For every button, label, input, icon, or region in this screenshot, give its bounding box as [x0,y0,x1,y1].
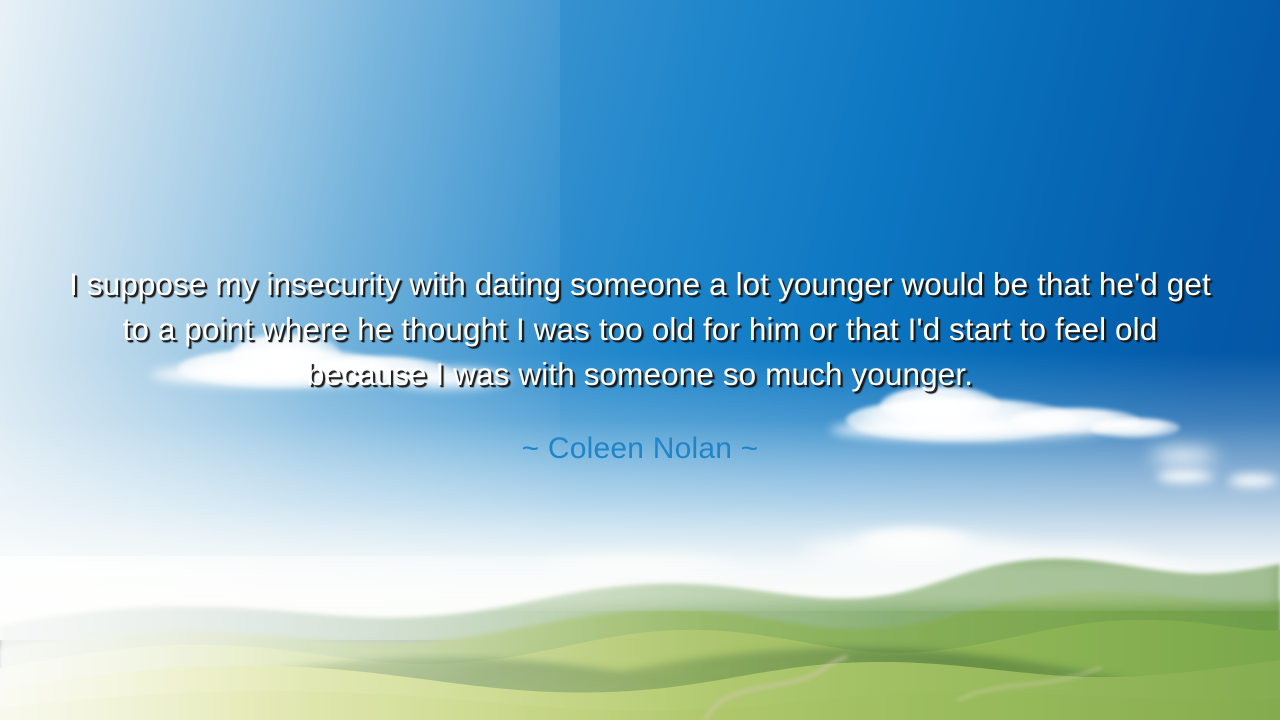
quote-block: I suppose my insecurity with dating some… [64,262,1216,468]
quote-attribution: ~ Coleen Nolan ~ [64,397,1216,468]
hill-haze-band [0,560,1280,606]
quote-text: I suppose my insecurity with dating some… [64,262,1216,397]
wallpaper-quote-scene: I suppose my insecurity with dating some… [0,0,1280,720]
